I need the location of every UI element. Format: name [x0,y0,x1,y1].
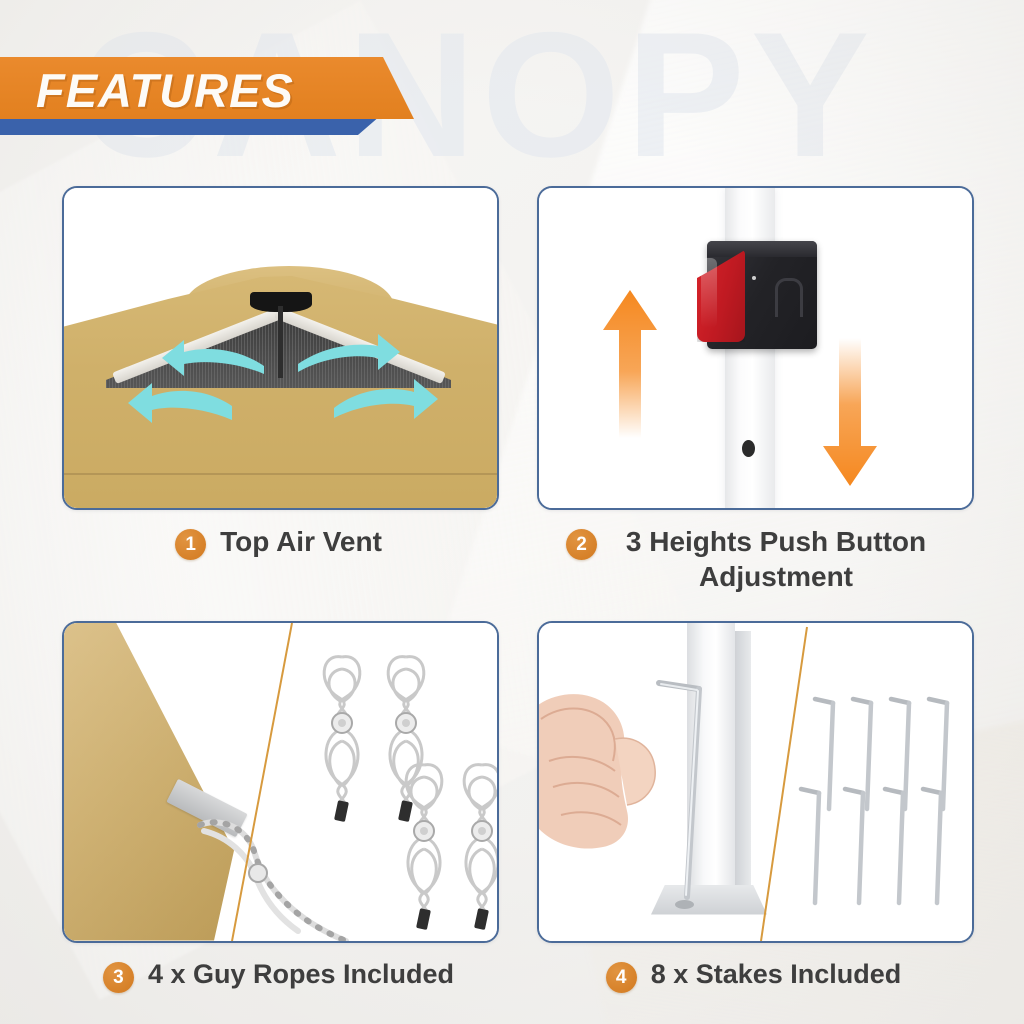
stake-front-2 [841,785,871,907]
height-up-arrow [601,288,659,438]
housing-slot [775,278,803,317]
feature-caption-2: 2 3 Heights Push Button Adjustment [537,510,970,595]
attached-guy-rope [194,811,394,943]
airflow-arrow-outer-left [126,380,236,426]
height-down-arrow [821,336,879,488]
feature-number-badge-2: 2 [566,529,597,560]
red-push-button-highlight [701,258,717,328]
feature-number-badge-3: 3 [103,962,134,993]
airflow-arrow-outer-right [330,374,440,420]
coiled-guy-rope-3 [394,751,454,931]
airflow-arrow-inner-left [160,336,270,380]
banner-title: FEATURES [36,63,294,118]
feature-card-2[interactable] [537,186,974,510]
stake-front-4 [919,785,949,907]
slider-housing-top [707,241,817,257]
feature-caption-text-4: 8 x Stakes Included [651,957,902,991]
airflow-arrow-inner-right [292,328,402,372]
vent-center-post [278,306,283,378]
feature-cell-1: 1 Top Air Vent [62,186,495,595]
pole-adjustment-hole [742,440,755,457]
feature-caption-4: 4 8 x Stakes Included [537,943,970,993]
feature-card-1[interactable] [62,186,499,510]
coiled-guy-rope-4 [452,751,499,931]
feature-number-badge-1: 1 [175,529,206,560]
feature-cell-4: 4 8 x Stakes Included [537,621,970,993]
features-row-top: 1 Top Air Vent [62,186,970,595]
housing-screw-dot [752,276,756,280]
feature-caption-text-1: Top Air Vent [220,524,382,559]
stake-front-1 [797,785,827,907]
features-row-bottom: 3 4 x Guy Ropes Included [62,621,970,993]
feature-card-3[interactable] [62,621,499,943]
canopy-seam-line [64,473,497,475]
feature-cell-3: 3 4 x Guy Ropes Included [62,621,495,993]
features-grid: 1 Top Air Vent [62,186,970,993]
feature-caption-text-2: 3 Heights Push Button Adjustment [611,524,941,595]
feature-caption-3: 3 4 x Guy Ropes Included [62,943,495,993]
guy-ropes-photo [64,623,497,941]
canopy-top-air-vent-photo [64,188,497,508]
coiled-guy-rope-1 [312,643,372,823]
feature-caption-text-3: 4 x Guy Ropes Included [148,957,454,991]
stake-front-3 [881,785,911,907]
features-banner: FEATURES [0,57,430,141]
feature-card-4[interactable] [537,621,974,943]
ground-stakes-photo [539,623,972,941]
feature-cell-2: 2 3 Heights Push Button Adjustment [537,186,970,595]
feature-number-badge-4: 4 [606,962,637,993]
push-button-height-adjustment-photo [539,188,972,508]
features-infographic: CANOPY FEATURES [0,0,1024,1024]
feature-caption-1: 1 Top Air Vent [62,510,495,560]
